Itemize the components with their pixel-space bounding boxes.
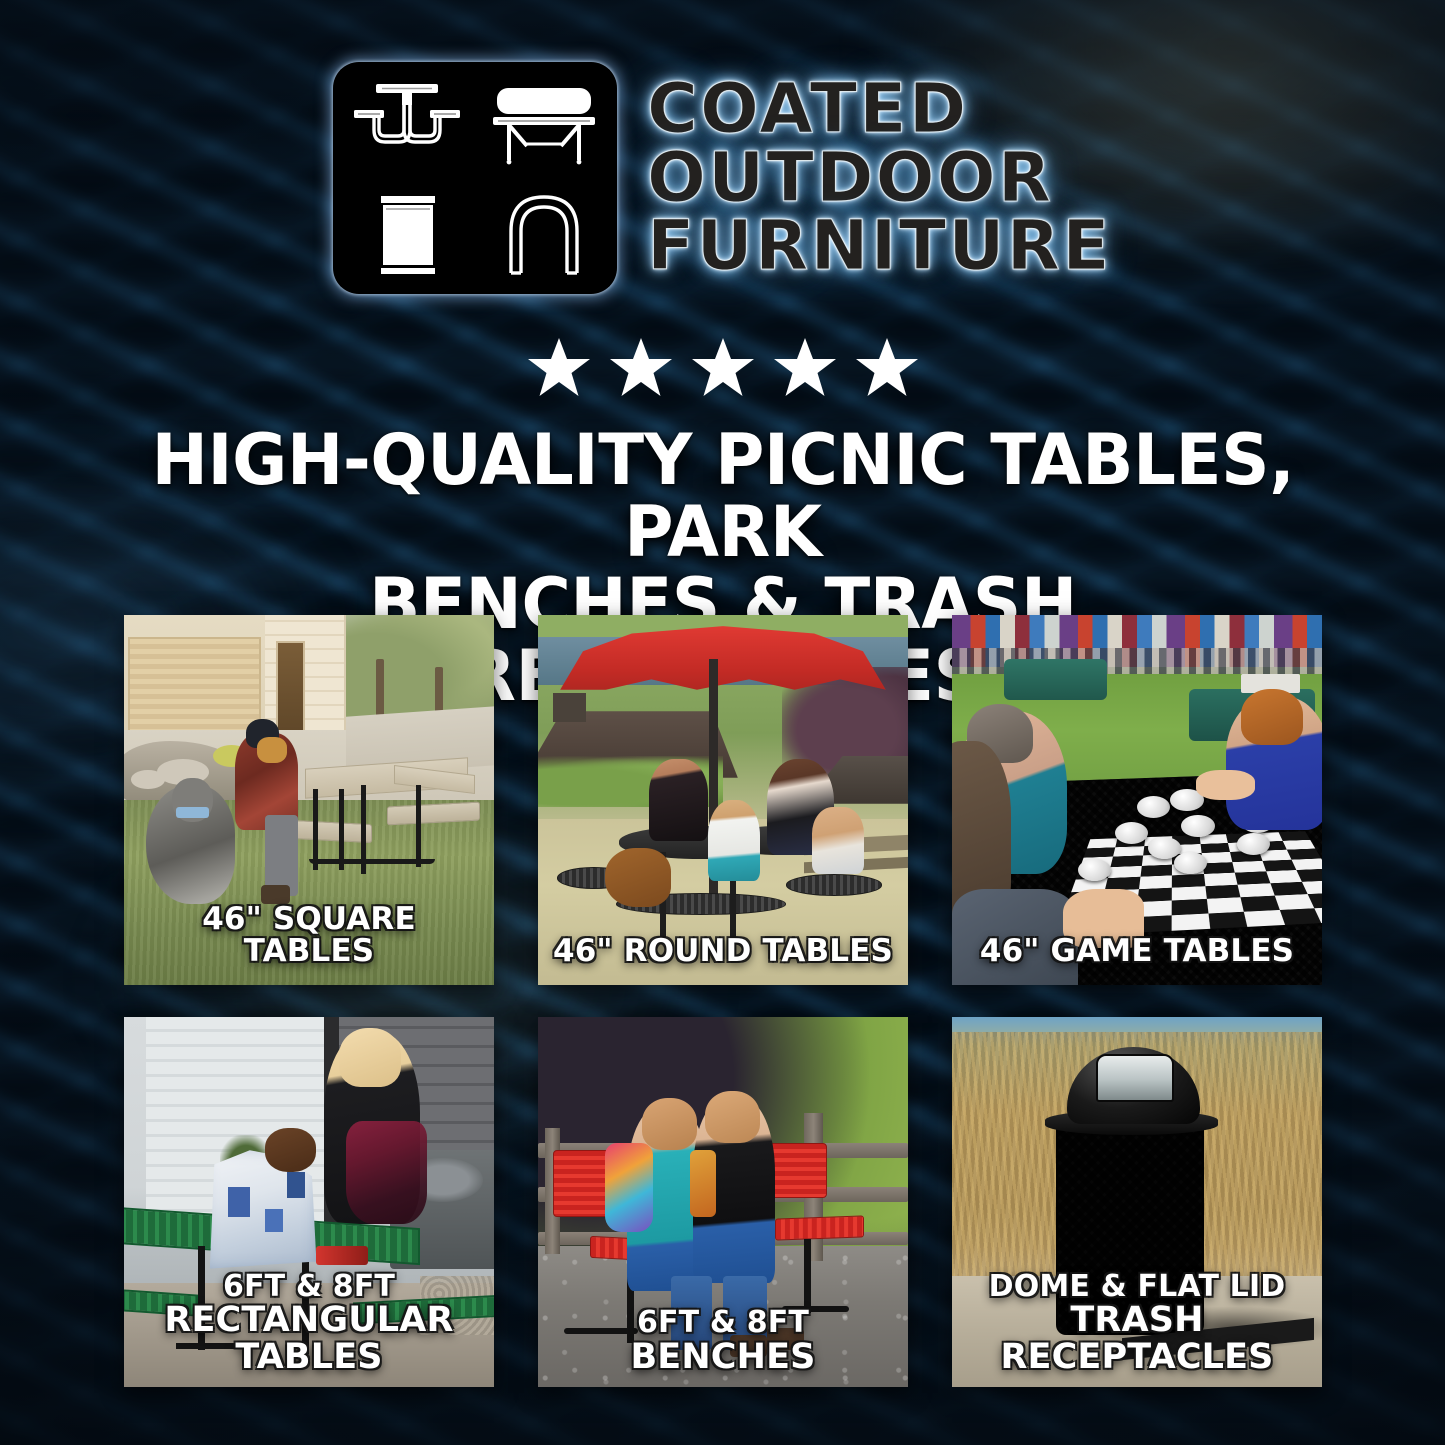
product-tile-trash-receptacles[interactable]: DOME & FLAT LID TRASH RECEPTACLES <box>952 1017 1322 1387</box>
product-caption-square-tables: 46" SQUARE TABLES <box>124 903 494 967</box>
bench-table-icon <box>477 69 610 176</box>
caption-line-1: DOME & FLAT LID <box>989 1269 1286 1304</box>
caption-line-2: BENCHES <box>546 1339 900 1375</box>
product-caption-trash-receptacles: DOME & FLAT LID TRASH RECEPTACLES <box>952 1271 1322 1375</box>
brand-lockup: COATED OUTDOOR FURNITURE <box>0 62 1445 294</box>
product-caption-round-tables: 46" ROUND TABLES <box>538 935 908 967</box>
picnic-table-icon <box>340 69 473 176</box>
star-icon <box>773 336 837 398</box>
star-icon <box>691 336 755 398</box>
product-photo-game-tables <box>952 615 1322 985</box>
headline-line-1: HIGH-QUALITY PICNIC TABLES, PARK <box>118 424 1328 568</box>
trash-receptacle-icon <box>340 180 473 287</box>
brand-name-line-1: COATED <box>647 76 968 143</box>
product-tile-square-tables[interactable]: 46" SQUARE TABLES <box>124 615 494 985</box>
product-photo-round-tables <box>538 615 908 985</box>
product-tile-rectangular-tables[interactable]: 6FT & 8FT RECTANGULAR TABLES <box>124 1017 494 1387</box>
bike-rack-arch-icon <box>477 180 610 287</box>
caption-line-2: RECTANGULAR TABLES <box>132 1302 486 1375</box>
product-caption-benches: 6FT & 8FT BENCHES <box>538 1307 908 1375</box>
brand-wordmark: COATED OUTDOOR FURNITURE <box>647 76 1112 281</box>
caption-line-2: TRASH RECEPTACLES <box>960 1302 1314 1375</box>
product-caption-game-tables: 46" GAME TABLES <box>952 935 1322 967</box>
star-icon <box>855 336 919 398</box>
caption-line-1: 6FT & 8FT <box>637 1305 809 1340</box>
product-caption-rectangular-tables: 6FT & 8FT RECTANGULAR TABLES <box>124 1271 494 1375</box>
star-rating <box>0 336 1445 398</box>
star-icon <box>609 336 673 398</box>
star-icon <box>527 336 591 398</box>
brand-name-line-2: OUTDOOR <box>647 145 1053 212</box>
product-category-grid: 46" SQUARE TABLES <box>124 615 1322 1387</box>
product-tile-round-tables[interactable]: 46" ROUND TABLES <box>538 615 908 985</box>
promotional-poster: COATED OUTDOOR FURNITURE HIGH-QUALITY PI… <box>0 0 1445 1445</box>
caption-line-1: 6FT & 8FT <box>223 1269 395 1304</box>
brand-logo-mark <box>333 62 617 294</box>
brand-name-line-3: FURNITURE <box>647 213 1112 280</box>
product-tile-game-tables[interactable]: 46" GAME TABLES <box>952 615 1322 985</box>
product-tile-benches[interactable]: 6FT & 8FT BENCHES <box>538 1017 908 1387</box>
